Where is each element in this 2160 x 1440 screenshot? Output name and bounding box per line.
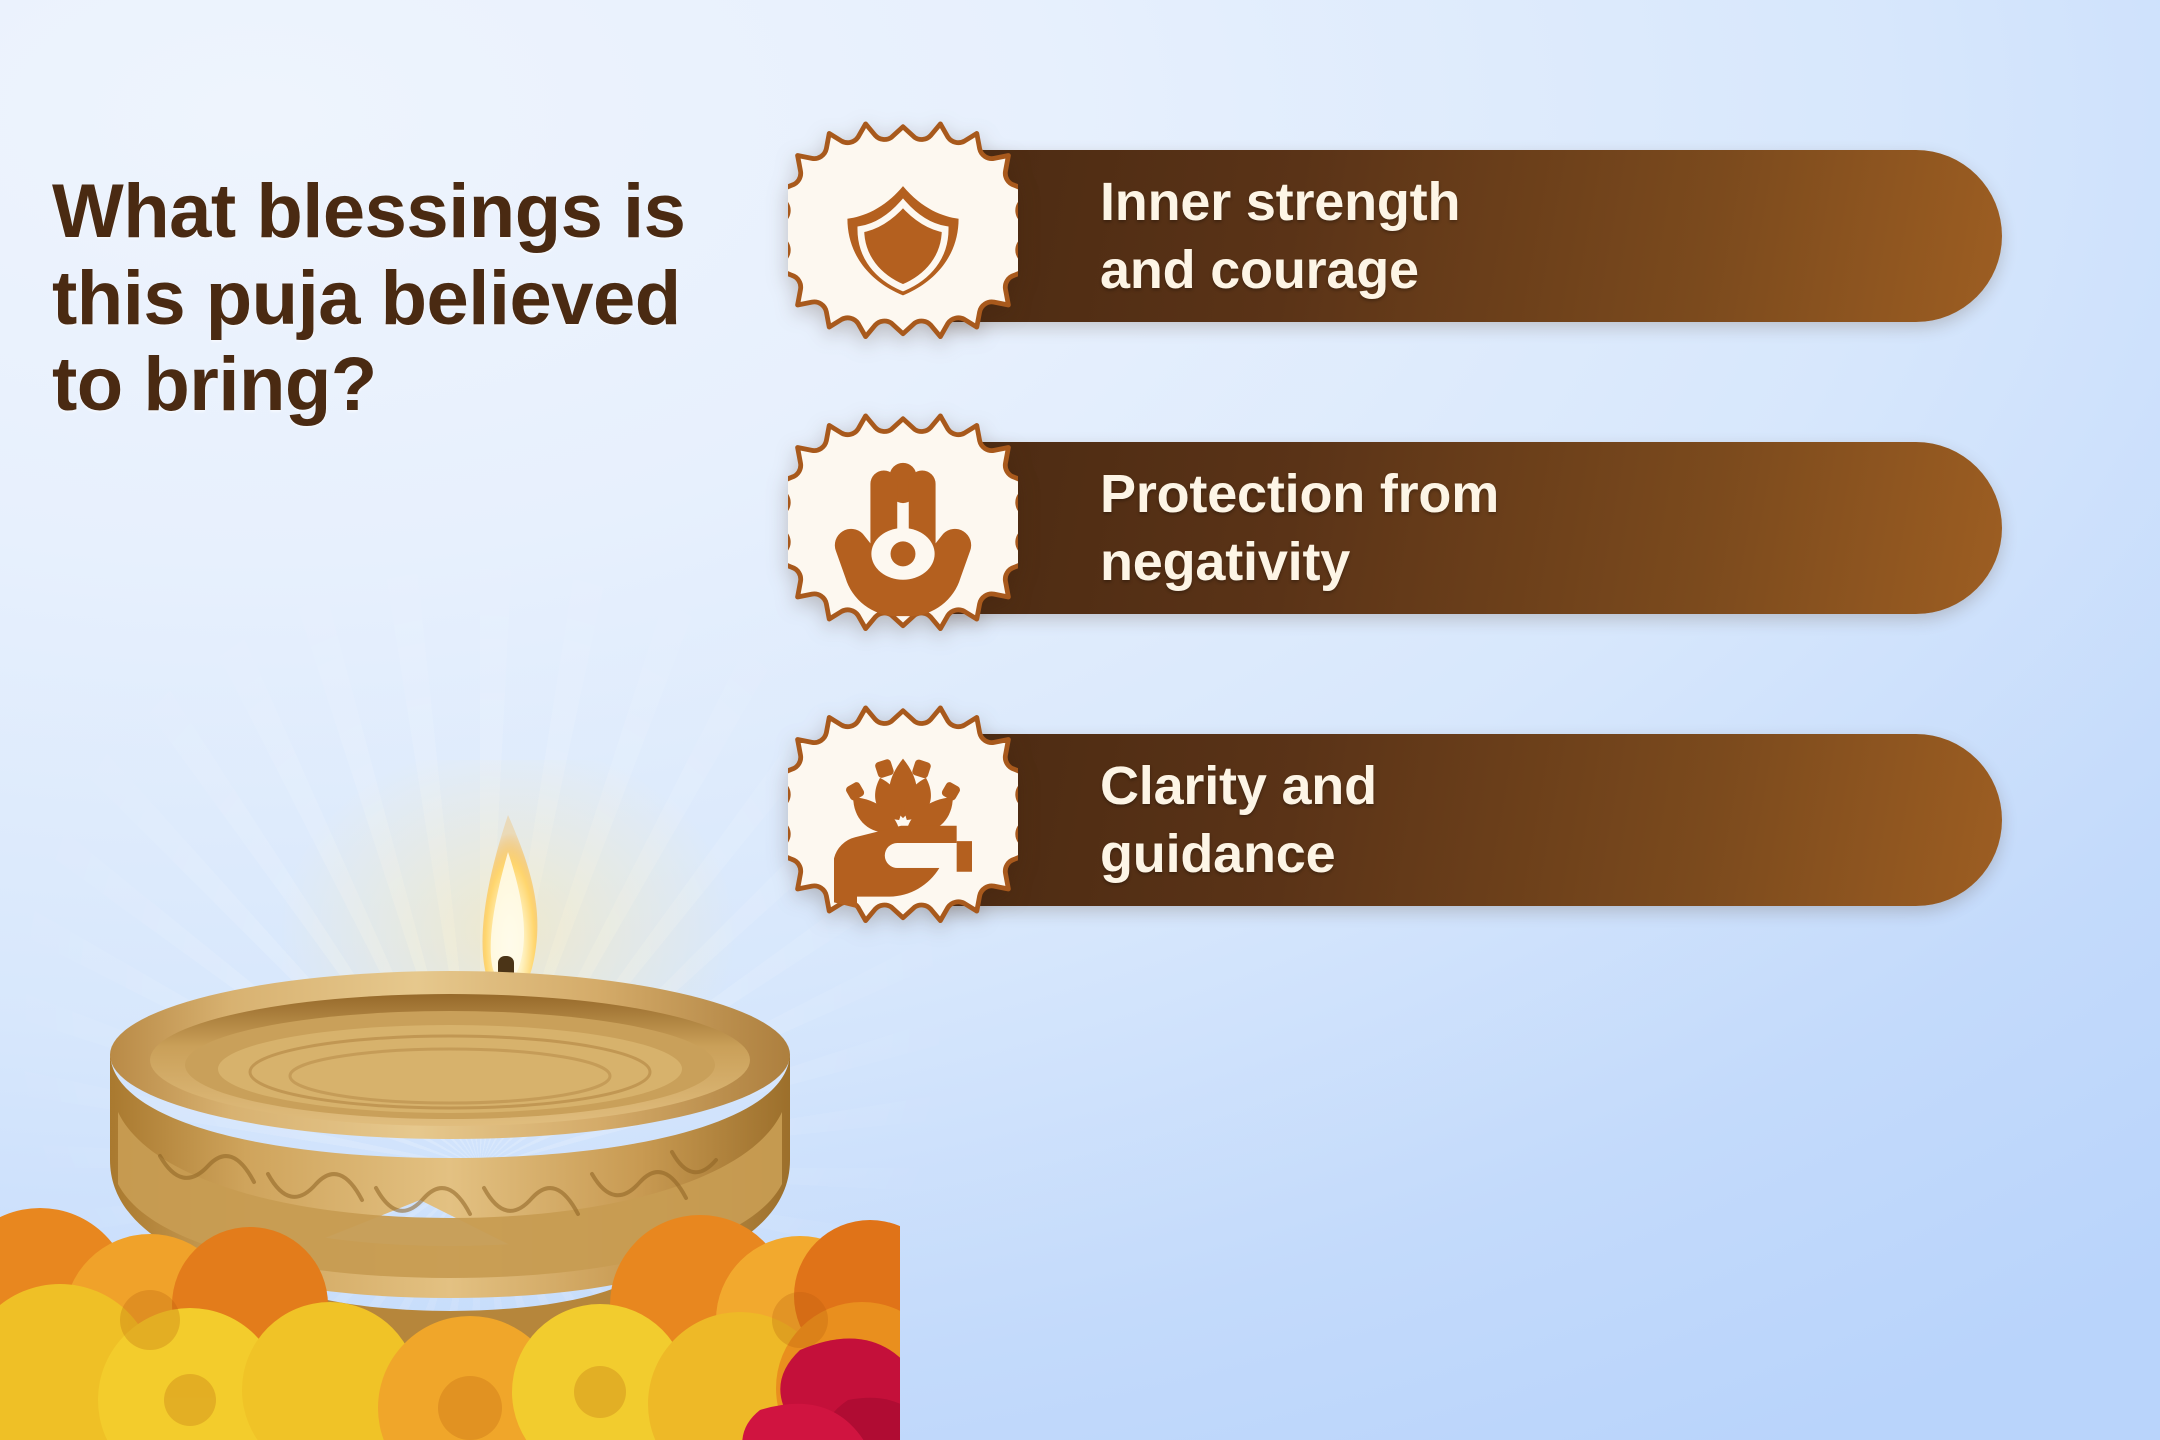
blessing-label: Inner strength and courage (1100, 168, 1720, 304)
rose-petals (742, 1338, 900, 1440)
lotus-in-hand-icon (788, 705, 1018, 935)
shield-icon (788, 121, 1018, 351)
blessing-label: Clarity and guidance (1100, 752, 1720, 888)
page-title: What blessings is this puja believed to … (52, 169, 772, 429)
marigold-cluster (0, 1208, 900, 1440)
blessing-card-protection[interactable]: Protection from negativity (770, 432, 2090, 624)
blessing-card-clarity[interactable]: Clarity and guidance (770, 724, 2090, 916)
blessings-list: Inner strength and courage Protection fr… (770, 140, 2090, 916)
hamsa-hand-icon (788, 413, 1018, 643)
diya-photo (0, 760, 900, 1440)
blessing-label: Protection from negativity (1100, 460, 1720, 596)
blessing-card-inner-strength[interactable]: Inner strength and courage (770, 140, 2090, 332)
infographic-canvas: What blessings is this puja believed to … (0, 0, 2160, 1440)
